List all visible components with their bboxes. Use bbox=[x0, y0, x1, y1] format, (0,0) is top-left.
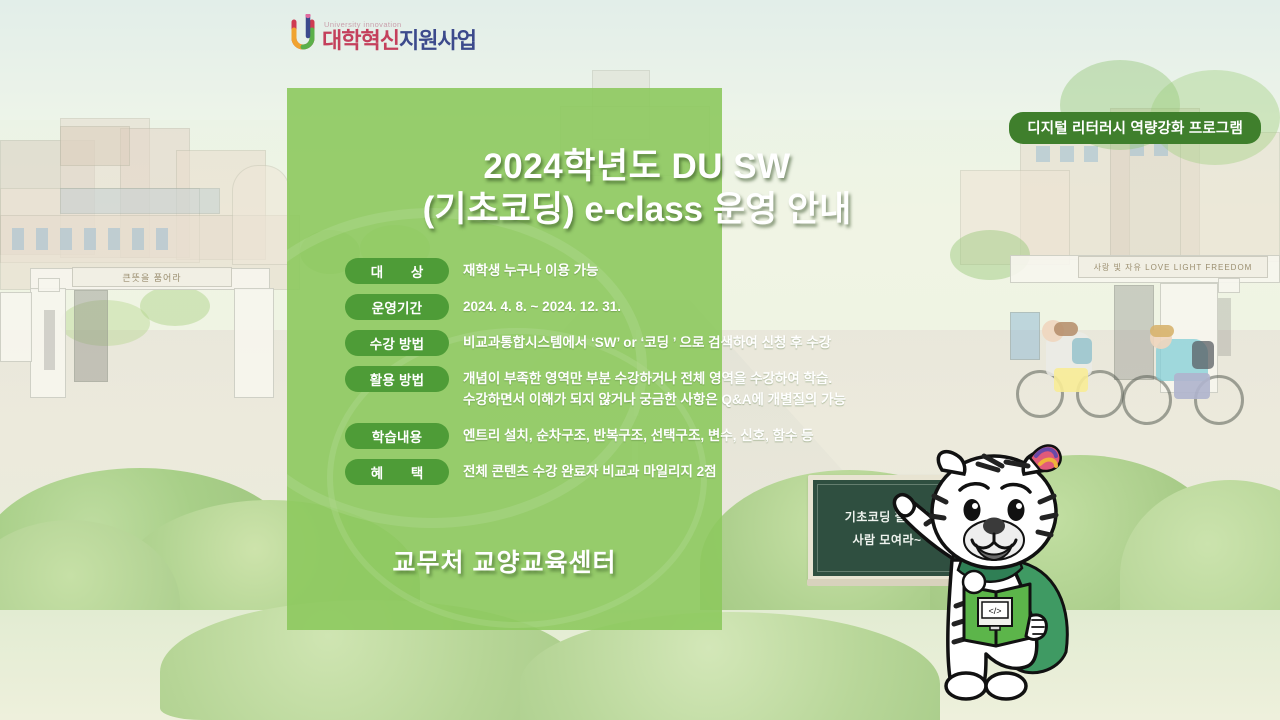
program-badge: 디지털 리터러시 역량강화 프로그램 bbox=[1009, 112, 1261, 144]
info-row-line: 2024. 4. 8. ~ 2024. 12. 31. bbox=[463, 297, 621, 318]
logo-korean-part-a: 대학혁신 bbox=[322, 28, 399, 53]
svg-text:</>: </> bbox=[988, 606, 1001, 616]
logo-korean-text: 대학혁신지원사업 bbox=[322, 30, 476, 52]
info-row-value: 엔트리 설치, 순차구조, 반복구조, 선택구조, 변수, 신호, 함수 등 bbox=[463, 423, 814, 447]
info-row: 운영기간 2024. 4. 8. ~ 2024. 12. 31. bbox=[345, 294, 985, 320]
info-row-label: 대 상 bbox=[345, 258, 449, 284]
window bbox=[1084, 146, 1098, 162]
info-row: 수강 방법 비교과통합시스템에서 ‘SW’ or ‘코딩 ’ 으로 검색하여 신… bbox=[345, 330, 985, 356]
gate-wall bbox=[0, 292, 32, 362]
info-row-label: 운영기간 bbox=[345, 294, 449, 320]
gate-frame bbox=[38, 278, 60, 292]
info-row-line: 엔트리 설치, 순차구조, 반복구조, 선택구조, 변수, 신호, 함수 등 bbox=[463, 426, 814, 447]
bicycle-wheel bbox=[1122, 375, 1172, 425]
rider-legs bbox=[1054, 368, 1088, 392]
window bbox=[84, 228, 96, 250]
info-row-line: 전체 콘텐츠 수강 완료자 비교과 마일리지 2점 bbox=[463, 462, 717, 483]
tiger-mascot: </> bbox=[890, 440, 1100, 705]
window bbox=[60, 228, 72, 250]
gate-frame bbox=[1218, 278, 1240, 293]
poster-footer: 교무처 교양교육센터 bbox=[287, 543, 722, 579]
info-row-line: 수강하면서 이해가 되지 않거나 궁금한 사항은 Q&A에 개별질의 가능 bbox=[463, 390, 846, 411]
info-row-value: 2024. 4. 8. ~ 2024. 12. 31. bbox=[463, 294, 621, 318]
info-row-value: 개념이 부족한 영역만 부분 수강하거나 전체 영역을 수강하여 학습. 수강하… bbox=[463, 366, 846, 411]
backpack bbox=[1192, 341, 1214, 369]
gate-sign-right: 사랑 빛 자유 LOVE LIGHT FREEDOM bbox=[1078, 256, 1268, 278]
u-mark-icon bbox=[291, 14, 317, 52]
logo-text-block: University innovation 대학혁신지원사업 bbox=[322, 20, 476, 52]
info-row-value: 재학생 누구나 이용 가능 bbox=[463, 258, 598, 282]
gate-door bbox=[74, 290, 108, 382]
info-row: 대 상 재학생 누구나 이용 가능 bbox=[345, 258, 985, 284]
poster-title-line1: 2024학년도 DU SW bbox=[287, 146, 987, 189]
rider-hair bbox=[1150, 325, 1174, 337]
gate-sign-right-text: 사랑 빛 자유 LOVE LIGHT FREEDOM bbox=[1094, 262, 1253, 273]
info-row: 활용 방법 개념이 부족한 영역만 부분 수강하거나 전체 영역을 수강하여 학… bbox=[345, 366, 985, 411]
logo-korean-part-b: 지원사업 bbox=[399, 28, 476, 53]
gate-sign-left: 큰뜻을 품어라 bbox=[72, 267, 232, 287]
university-innovation-logo: University innovation 대학혁신지원사업 bbox=[291, 14, 476, 52]
info-row-label: 학습내용 bbox=[345, 423, 449, 449]
backpack bbox=[1072, 338, 1092, 364]
tree bbox=[140, 286, 210, 326]
gate-plate bbox=[44, 310, 55, 370]
info-row-line: 개념이 부족한 영역만 부분 수강하거나 전체 영역을 수강하여 학습. bbox=[463, 369, 846, 390]
window bbox=[156, 228, 168, 250]
window bbox=[1060, 146, 1074, 162]
rider-hair bbox=[1054, 322, 1078, 336]
window bbox=[132, 228, 144, 250]
window bbox=[36, 228, 48, 250]
info-row-label: 활용 방법 bbox=[345, 366, 449, 392]
info-row-line: 비교과통합시스템에서 ‘SW’ or ‘코딩 ’ 으로 검색하여 신청 후 수강 bbox=[463, 333, 831, 354]
poster-title: 2024학년도 DU SW (기초코딩) e-class 운영 안내 bbox=[287, 146, 987, 231]
building bbox=[60, 126, 130, 166]
rider-legs bbox=[1174, 373, 1210, 399]
info-row-label: 혜 택 bbox=[345, 459, 449, 485]
info-row: 학습내용 엔트리 설치, 순차구조, 반복구조, 선택구조, 변수, 신호, 함… bbox=[345, 423, 985, 449]
poster-title-line2: (기초코딩) e-class 운영 안내 bbox=[287, 189, 987, 232]
window bbox=[108, 228, 120, 250]
building bbox=[60, 188, 220, 214]
cyclist-right bbox=[1120, 325, 1270, 440]
gate-sign-left-text: 큰뜻을 품어라 bbox=[122, 271, 181, 284]
window bbox=[1036, 146, 1050, 162]
info-row-value: 비교과통합시스템에서 ‘SW’ or ‘코딩 ’ 으로 검색하여 신청 후 수강 bbox=[463, 330, 831, 354]
info-row-list: 대 상 재학생 누구나 이용 가능 운영기간 2024. 4. 8. ~ 202… bbox=[345, 258, 985, 495]
info-row-line: 재학생 누구나 이용 가능 bbox=[463, 261, 598, 282]
window bbox=[12, 228, 24, 250]
info-row-value: 전체 콘텐츠 수강 완료자 비교과 마일리지 2점 bbox=[463, 459, 717, 483]
gate-pillar bbox=[234, 288, 274, 398]
building bbox=[232, 165, 290, 265]
info-row-label: 수강 방법 bbox=[345, 330, 449, 356]
